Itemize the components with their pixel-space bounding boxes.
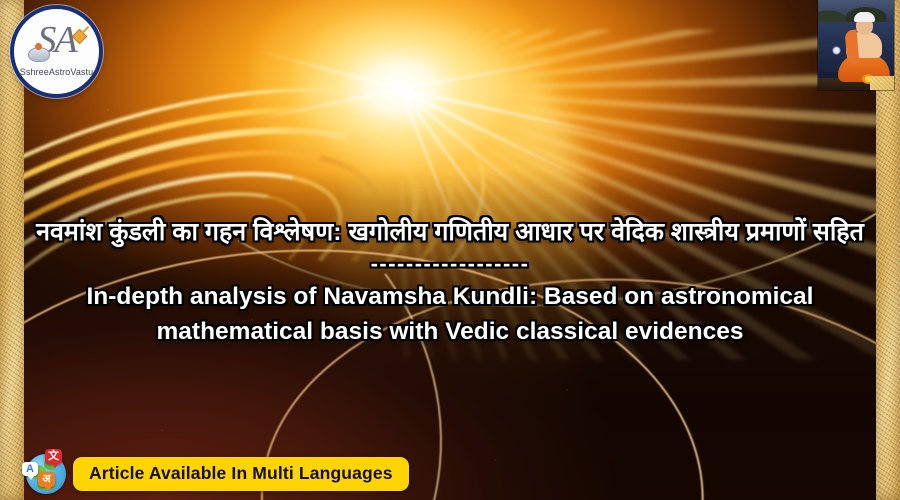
- satellite-dish-icon: [28, 47, 50, 62]
- chinese-letter-bubble-icon: 文: [45, 449, 62, 464]
- logo-brand-name: SshreeAstroVastu: [14, 67, 99, 77]
- gold-corner-texture: [870, 76, 894, 90]
- multi-language-badge[interactable]: Article Available In Multi Languages: [73, 457, 409, 491]
- title-divider: ------------------: [26, 253, 874, 275]
- title-block: नवमांश कुंडली का गहन विश्लेषण: खगोलीय गण…: [26, 214, 874, 349]
- devanagari-letter-bubble-icon: अ: [38, 472, 55, 487]
- brand-logo-badge[interactable]: SA SshreeAstroVastu: [10, 5, 103, 98]
- hindi-title: नवमांश कुंडली का गहन विश्लेषण: खगोलीय गण…: [26, 214, 874, 251]
- video-thumbnail-canvas: SA SshreeAstroVastu नवमांश कुंडली का गहन…: [0, 0, 900, 500]
- translate-globe-icon: A 文 अ: [26, 454, 66, 494]
- latin-letter-bubble-icon: A: [22, 462, 38, 476]
- moon-reflection: [832, 46, 841, 55]
- multi-language-row: A 文 अ Article Available In Multi Languag…: [26, 454, 409, 494]
- english-title: In-depth analysis of Navamsha Kundli: Ba…: [26, 279, 874, 349]
- guru-portrait-image: [818, 0, 894, 90]
